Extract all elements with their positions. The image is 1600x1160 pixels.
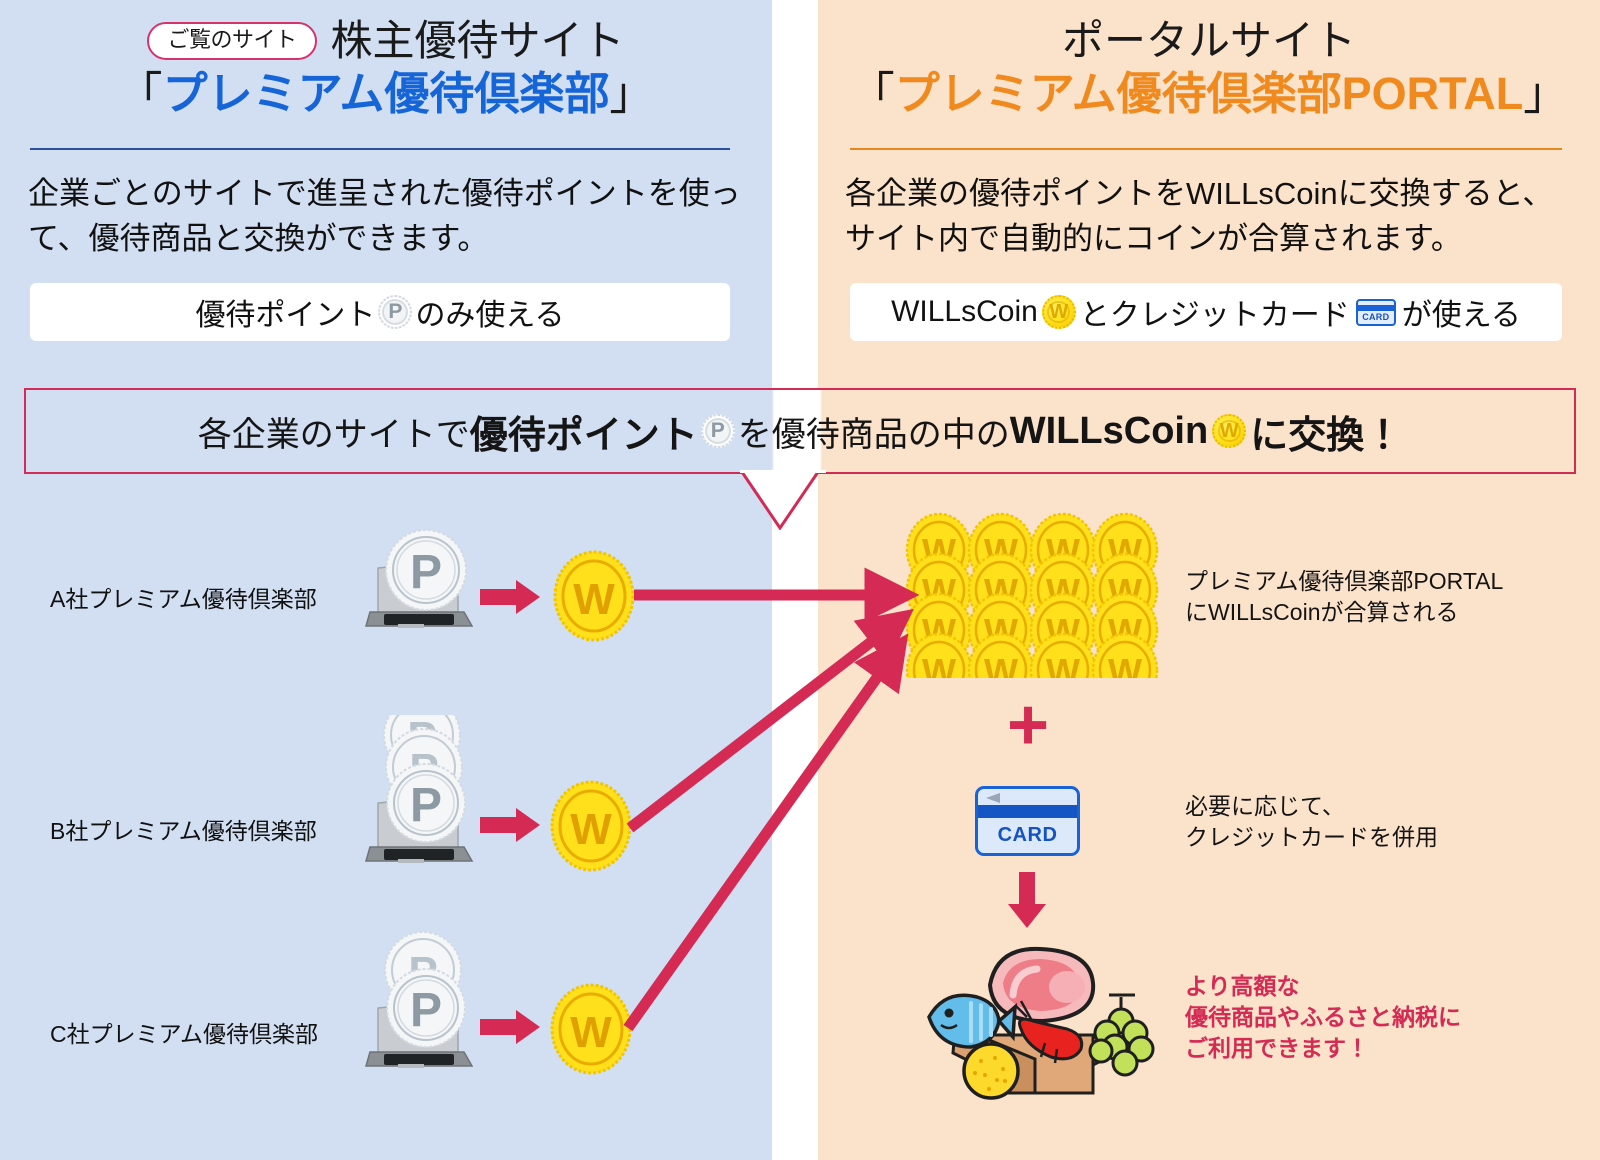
banner-bold2: WILLsCoin — [1010, 410, 1208, 453]
point-coin-icon: P — [701, 414, 735, 448]
banner-part1: 各企業のサイトで — [198, 407, 470, 456]
banner-text: 各企業のサイトで 優待ポイント P を優待商品の中の WILLsCoin W に… — [198, 404, 1402, 459]
wills-coin-icon: W — [1212, 414, 1246, 448]
conversion-flow-arrows — [0, 0, 1600, 1160]
banner-bold3: に交換！ — [1250, 404, 1402, 459]
exchange-instruction-banner: 各企業のサイトで 優待ポイント P を優待商品の中の WILLsCoin W に… — [24, 388, 1576, 474]
banner-bold1: 優待ポイント — [470, 404, 698, 459]
infographic-canvas: ご覧のサイト 株主優待サイト 「プレミアム優待倶楽部」 企業ごとのサイトで進呈さ… — [0, 0, 1600, 1160]
banner-part2: を優待商品の中の — [738, 407, 1010, 456]
banner-pointer-tail — [740, 470, 826, 530]
